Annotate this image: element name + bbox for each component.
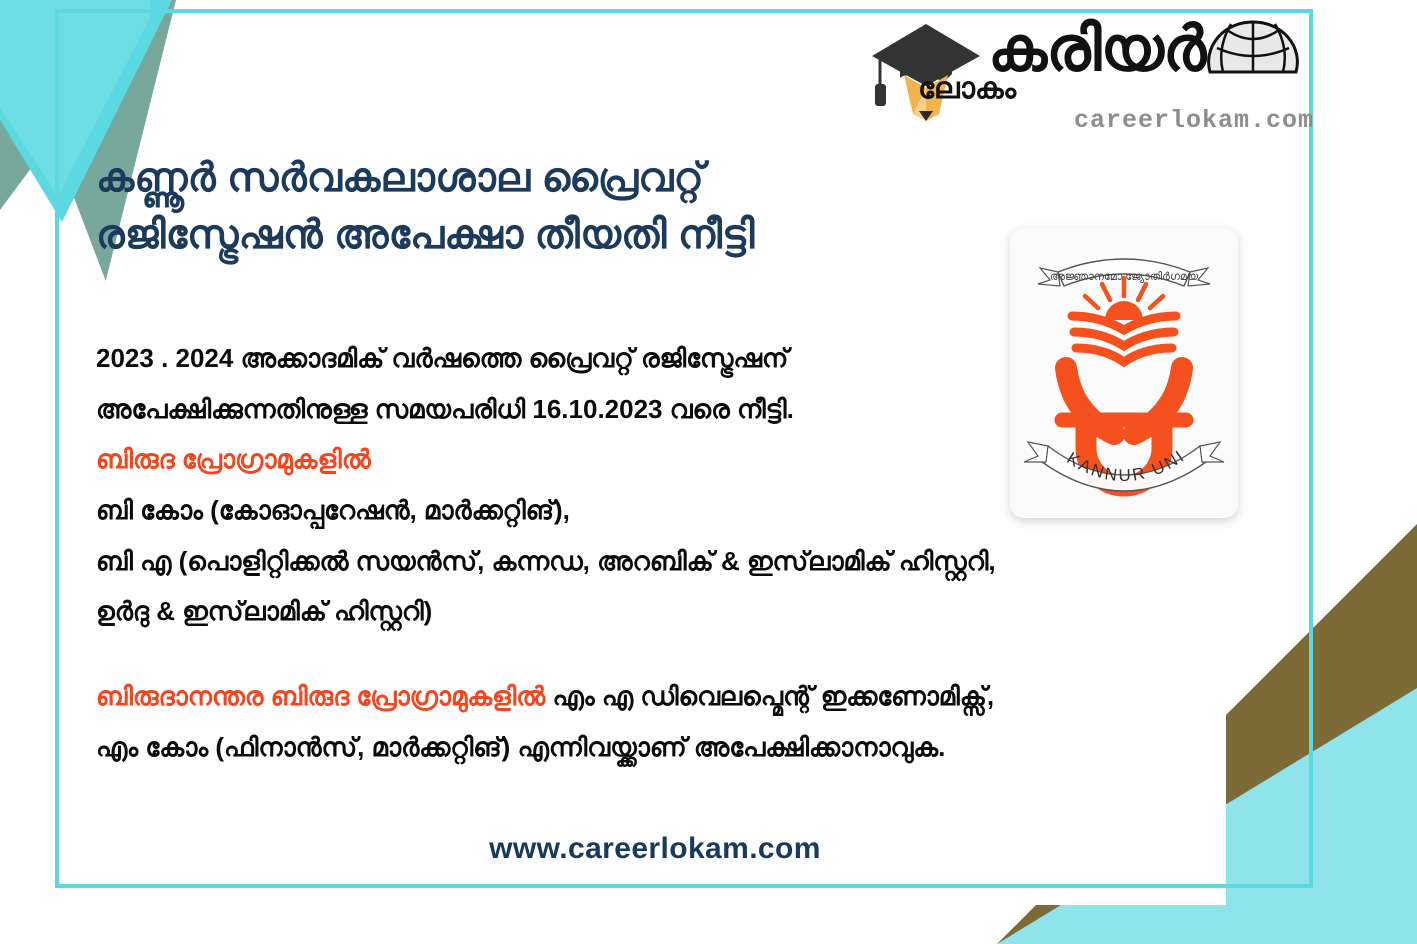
- page-title-line-2: രജിസ്ട്രേഷൻ അപേക്ഷാ തീയതി നീട്ടി: [96, 207, 996, 264]
- deadline-line-2: അപേക്ഷിക്കുന്നതിനുള്ള സമയപരിധി 16.10.202…: [96, 384, 1156, 435]
- brand-malayalam-name: കരിയർ: [988, 21, 1205, 80]
- pg-programs-line-2: എം കോം (ഫിനാൻസ്, മാർക്കറ്റിങ്) എന്നിവയ്ക…: [96, 722, 1156, 773]
- brand-wordmark: കരിയർ ലോകം careerlokam.com: [988, 18, 1314, 135]
- ug-program-line-2: ബി എ (പൊളിറ്റിക്കൽ സയൻസ്, കന്നഡ, അറബിക് …: [96, 536, 1156, 587]
- globe-icon: [1207, 18, 1299, 80]
- page-title-line-1: കണ്ണൂർ സർവകലാശാല പ്രൈവറ്റ്: [96, 156, 704, 200]
- deadline-line-1: 2023 . 2024 അക്കാദമിക് വർഷത്തെ പ്രൈവറ്റ്…: [96, 333, 1156, 384]
- page-title: കണ്ണൂർ സർവകലാശാല പ്രൈവറ്റ് രജിസ്ട്രേഷൻ അ…: [96, 150, 996, 264]
- announcement-body: 2023 . 2024 അക്കാദമിക് വർഷത്തെ പ്രൈവറ്റ്…: [96, 333, 1156, 773]
- ug-program-line-3: ഉർദു & ഇസ്‌ലാമിക് ഹിസ്റ്ററി): [96, 586, 1156, 637]
- poster-canvas: കരിയർ ലോകം careerlokam.com കണ്ണൂർ സർവകലാ…: [0, 0, 1417, 944]
- pg-programs-line-1: ബിരുദാനന്തര ബിരുദ പ്രോഗ്രാമുകളിൽ എം എ ഡി…: [96, 671, 1156, 722]
- graduation-cap-pencil-icon: [866, 18, 986, 122]
- section-spacer: [96, 637, 1156, 671]
- brand-malayalam-sub: ലോകം: [918, 74, 1016, 104]
- careerlokam-logo: കരിയർ ലോകം careerlokam.com: [866, 18, 1306, 140]
- pg-programs-heading: ബിരുദാനന്തര ബിരുദ പ്രോഗ്രാമുകളിൽ: [96, 681, 545, 711]
- footer-website-url[interactable]: www.careerlokam.com: [0, 832, 1310, 866]
- ug-program-line-1: ബി കോം (കോഓപ്പറേഷൻ, മാർക്കറ്റിങ്),: [96, 485, 1156, 536]
- pg-programs-line-1-rest: എം എ ഡിവെലപ്മെന്റ് ഇക്കണോമിക്സ്,: [545, 681, 994, 711]
- brand-url-text: careerlokam.com: [1074, 106, 1314, 135]
- ug-programs-heading: ബിരുദ പ്രോഗ്രാമുകളിൽ: [96, 434, 1156, 485]
